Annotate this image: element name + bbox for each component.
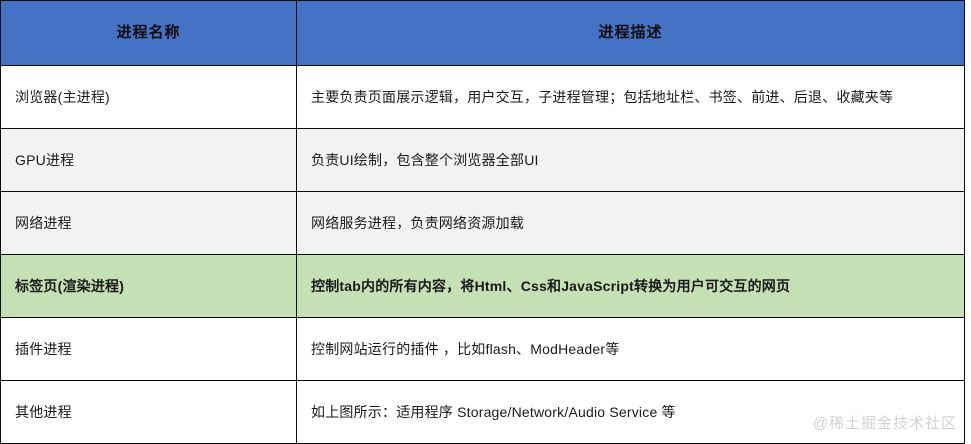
table-row: 标签页(渲染进程)控制tab内的所有内容，将Html、Css和JavaScrip… [1, 255, 965, 318]
cell-process-name: 其他进程 [1, 381, 297, 444]
cell-process-description: 网络服务进程，负责网络资源加载 [297, 192, 965, 255]
column-header-process-name: 进程名称 [1, 1, 297, 66]
header-row: 进程名称 进程描述 [1, 1, 965, 66]
cell-process-description: 主要负责页面展示逻辑，用户交互，子进程管理；包括地址栏、书签、前进、后退、收藏夹… [297, 66, 965, 129]
cell-process-description: 如上图所示：适用程序 Storage/Network/Audio Service… [297, 381, 965, 444]
table-row: 网络进程网络服务进程，负责网络资源加载 [1, 192, 965, 255]
table-row: GPU进程负责UI绘制，包含整个浏览器全部UI [1, 129, 965, 192]
cell-process-description: 控制网站运行的插件 ，比如flash、ModHeader等 [297, 318, 965, 381]
table-row: 插件进程控制网站运行的插件 ，比如flash、ModHeader等 [1, 318, 965, 381]
table-header: 进程名称 进程描述 [1, 1, 965, 66]
table-row: 浏览器(主进程)主要负责页面展示逻辑，用户交互，子进程管理；包括地址栏、书签、前… [1, 66, 965, 129]
cell-process-name: GPU进程 [1, 129, 297, 192]
cell-process-description: 控制tab内的所有内容，将Html、Css和JavaScript转换为用户可交互… [297, 255, 965, 318]
cell-process-name: 浏览器(主进程) [1, 66, 297, 129]
column-header-process-description: 进程描述 [297, 1, 965, 66]
cell-process-name: 标签页(渲染进程) [1, 255, 297, 318]
cell-process-description: 负责UI绘制，包含整个浏览器全部UI [297, 129, 965, 192]
cell-process-name: 网络进程 [1, 192, 297, 255]
table-body: 浏览器(主进程)主要负责页面展示逻辑，用户交互，子进程管理；包括地址栏、书签、前… [1, 66, 965, 444]
table-row: 其他进程如上图所示：适用程序 Storage/Network/Audio Ser… [1, 381, 965, 444]
cell-process-name: 插件进程 [1, 318, 297, 381]
process-table: 进程名称 进程描述 浏览器(主进程)主要负责页面展示逻辑，用户交互，子进程管理；… [0, 0, 965, 444]
